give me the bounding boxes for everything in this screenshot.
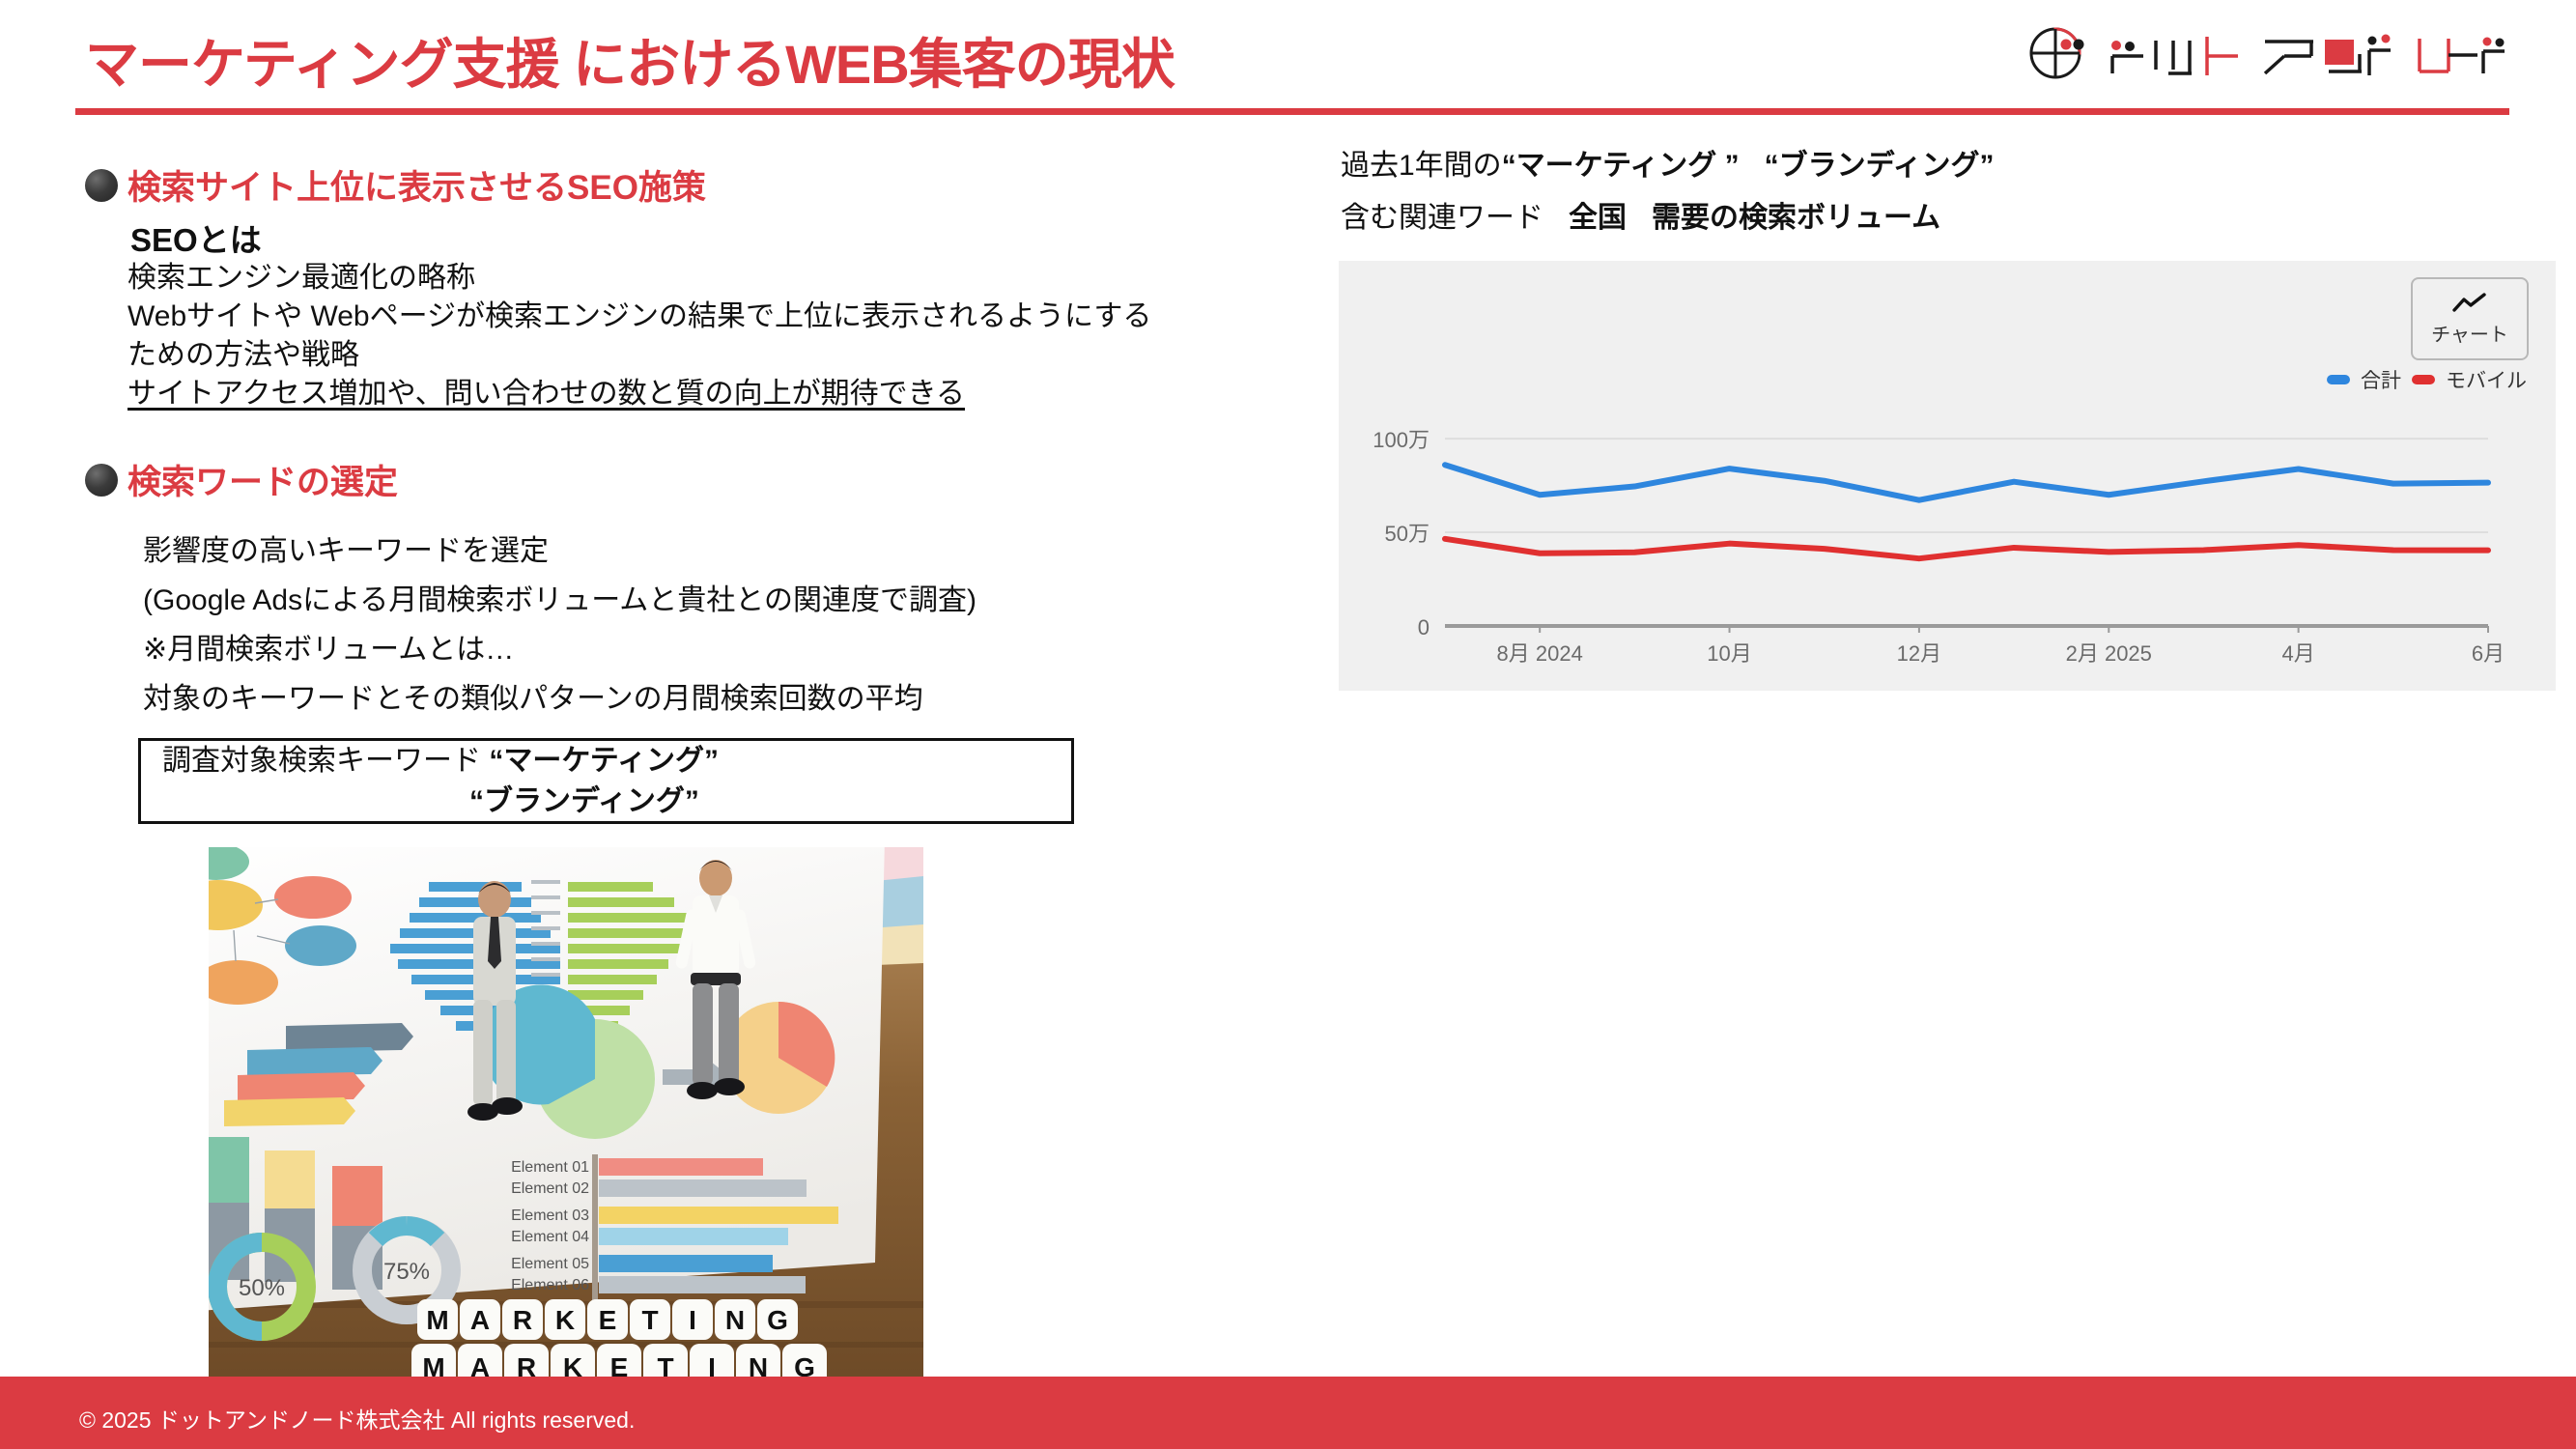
svg-text:8月 2024: 8月 2024 [1497, 641, 1583, 666]
chart-caption: 過去1年間の“マーケティング ”“ブランディング” 含む関連ワード全国需要の検索… [1341, 140, 2558, 244]
section-heading-seo: 検索サイト上位に表示させるSEO施策 [85, 160, 706, 210]
legend-label-total: 合計 [2361, 365, 2401, 394]
svg-text:75%: 75% [383, 1259, 430, 1285]
legend-swatch-mobile [2412, 375, 2435, 384]
seo-description: 検索エンジン最適化の略称 Webサイトや Webページが検索エンジンの結果で上位… [127, 259, 1287, 413]
footer-copyright: © 2025 ドットアンドノード株式会社 All rights reserved… [79, 1402, 635, 1435]
chart-caption-demand: 需要の検索ボリューム [1652, 202, 1940, 234]
bullet-dot-icon [85, 464, 118, 497]
chart-caption-region: 全国 [1569, 202, 1627, 234]
svg-text:10月: 10月 [1707, 641, 1751, 666]
chart-caption-related: 含む関連ワード [1341, 202, 1543, 234]
svg-text:Element 04: Element 04 [511, 1229, 589, 1245]
keyword-line-4: 対象のキーワードとその類似パターンの月間検索回数の平均 [143, 674, 1302, 724]
search-volume-chart: 050万100万8月 202410月12月2月 20254月6月 チャート 合計… [1339, 261, 2556, 691]
legend-swatch-total [2327, 375, 2350, 384]
keyword-line-2: (Google Adsによる月間検索ボリュームと貴社との関連度で調査) [143, 576, 1302, 625]
svg-text:Element 01: Element 01 [511, 1159, 589, 1176]
svg-text:Element 05: Element 05 [511, 1256, 589, 1272]
chart-caption-prefix: 過去1年間の [1341, 150, 1502, 182]
svg-text:T: T [641, 1305, 658, 1335]
chart-caption-line-2: 含む関連ワード全国需要の検索ボリューム [1341, 192, 2558, 244]
target-keyword-label: 調査対象検索キーワード [162, 745, 481, 777]
keyword-line-1: 影響度の高いキーワードを選定 [143, 526, 1302, 576]
seo-line-2: Webサイトや Webページが検索エンジンの結果で上位に表示されるようにする [127, 298, 1287, 336]
svg-text:R: R [513, 1305, 532, 1335]
target-keyword-box-content: 調査対象検索キーワード “マーケティング” “ブランディング” [141, 741, 719, 822]
svg-text:4月: 4月 [2282, 641, 2315, 666]
svg-text:6月: 6月 [2472, 641, 2505, 666]
marketing-photo: 50% 75% [209, 847, 923, 1386]
section-heading-keyword: 検索ワードの選定 [85, 455, 398, 504]
svg-text:Element 03: Element 03 [511, 1207, 589, 1224]
svg-text:50%: 50% [239, 1275, 285, 1301]
svg-text:Element 02: Element 02 [511, 1180, 589, 1197]
svg-text:12月: 12月 [1897, 641, 1941, 666]
right-column: 過去1年間の“マーケティング ”“ブランディング” 含む関連ワード全国需要の検索… [1323, 0, 2576, 1449]
svg-text:M: M [426, 1305, 448, 1335]
seo-line-4-underlined: サイトアクセス増加や、問い合わせの数と質の向上が期待できる [127, 375, 1287, 413]
seo-line-3: ための方法や戦略 [127, 336, 1287, 375]
target-keyword-1: “マーケティング” [489, 745, 719, 777]
seo-line-1: 検索エンジン最適化の略称 [127, 259, 1287, 298]
svg-text:K: K [555, 1305, 575, 1335]
target-keyword-box: 調査対象検索キーワード “マーケティング” “ブランディング” [138, 738, 1074, 824]
svg-text:A: A [470, 1305, 490, 1335]
chart-caption-keyword-2: “ブランディング” [1765, 150, 1995, 182]
svg-text:2月 2025: 2月 2025 [2066, 641, 2152, 666]
svg-text:0: 0 [1418, 615, 1430, 639]
chart-legend: 合計 モバイル [2327, 365, 2527, 394]
chart-caption-keyword-1: “マーケティング ” [1502, 150, 1740, 182]
bullet-dot-icon [85, 169, 118, 202]
section-heading-keyword-label: 検索ワードの選定 [127, 455, 398, 504]
chart-type-button-label: チャート [2431, 319, 2508, 347]
slide-root: マーケティング支援 におけるWEB集客の現状 [0, 0, 2576, 1449]
seo-subheading: SEOとは [130, 214, 262, 261]
svg-text:100万: 100万 [1373, 428, 1430, 452]
legend-label-mobile: モバイル [2446, 365, 2527, 394]
keyword-line-3: ※月間検索ボリュームとは… [143, 625, 1302, 674]
chart-type-button[interactable]: チャート [2411, 277, 2529, 360]
target-keyword-2: “ブランディング” [162, 781, 719, 822]
svg-text:I: I [689, 1305, 696, 1335]
svg-text:E: E [599, 1305, 617, 1335]
line-chart-icon [2451, 292, 2488, 315]
svg-text:50万: 50万 [1385, 522, 1430, 546]
footer-bar: © 2025 ドットアンドノード株式会社 All rights reserved… [0, 1377, 2576, 1449]
keyword-selection-description: 影響度の高いキーワードを選定 (Google Adsによる月間検索ボリュームと貴… [143, 526, 1302, 724]
svg-text:Element 06: Element 06 [511, 1277, 589, 1293]
section-heading-seo-label: 検索サイト上位に表示させるSEO施策 [127, 160, 706, 210]
left-column: 検索サイト上位に表示させるSEO施策 SEOとは 検索エンジン最適化の略称 We… [0, 0, 1323, 1449]
svg-text:N: N [725, 1305, 745, 1335]
svg-text:G: G [767, 1305, 788, 1335]
chart-caption-line-1: 過去1年間の“マーケティング ”“ブランディング” [1341, 140, 2558, 192]
